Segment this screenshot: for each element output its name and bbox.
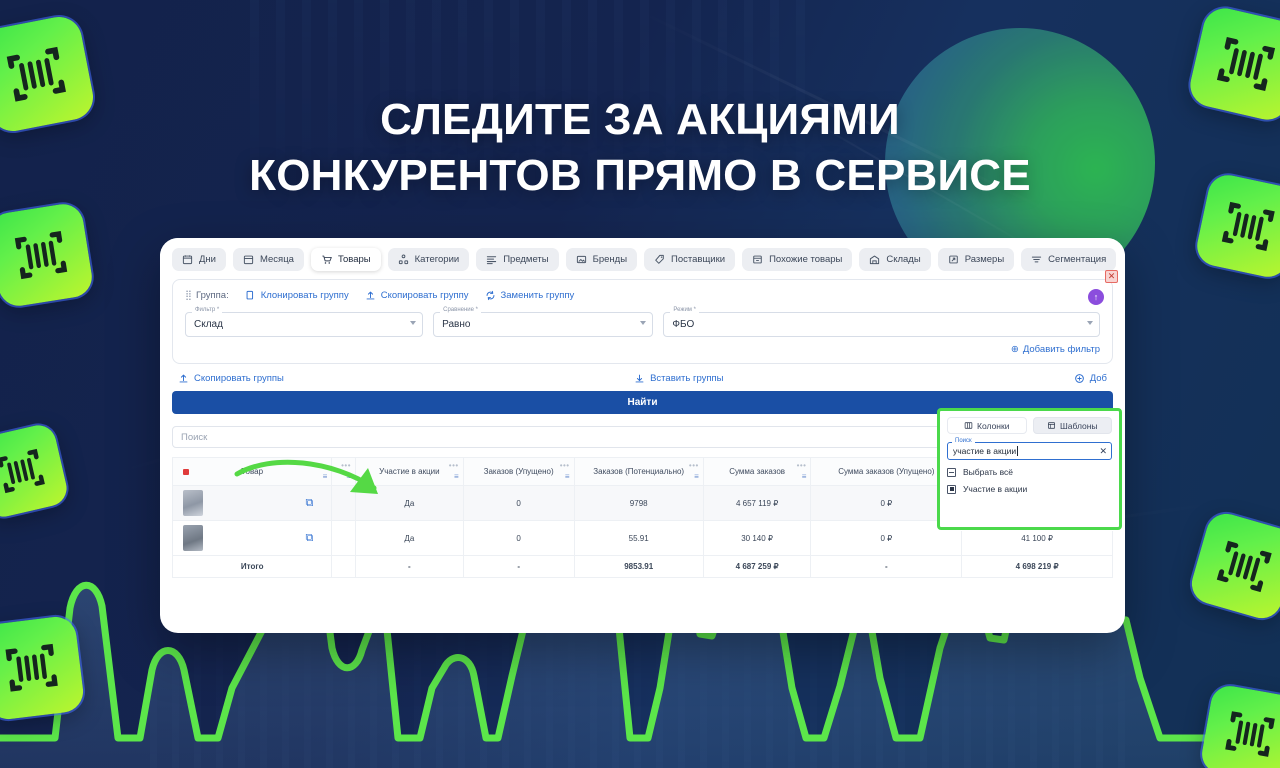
cell-total-promo: -: [356, 556, 464, 578]
tab-segmentaciya[interactable]: Сегментация: [1021, 248, 1116, 271]
comparison-field[interactable]: Сравнение * Равно: [433, 312, 653, 337]
main-tab-bar: Дни Месяца Товары Категории Предметы Бре…: [160, 238, 1125, 279]
add-filter-button[interactable]: ⊕Добавить фильтр: [185, 344, 1100, 355]
column-header-orders-potential[interactable]: Заказов (Потенциально) ••• ≡: [574, 458, 703, 486]
category-icon: [398, 254, 409, 265]
more-icon[interactable]: •••: [797, 461, 807, 470]
cell-total-orders-sum-lost: -: [811, 556, 962, 578]
cell-total-orders-sum: 4 687 259 ₽: [703, 556, 811, 578]
cell-product[interactable]: ⧉: [173, 521, 332, 556]
option-select-all-label: Выбрать всё: [963, 467, 1013, 477]
flag-icon: [183, 469, 189, 475]
cell-total-orders-potential: 9853.91: [574, 556, 703, 578]
tab-label: Предметы: [503, 254, 548, 265]
filter-field-value[interactable]: Склад: [185, 312, 423, 337]
copy-groups-label: Скопировать группы: [194, 373, 284, 384]
cell-total-orders-lost: -: [463, 556, 574, 578]
column-header-product[interactable]: Товар ≡: [173, 458, 332, 486]
clone-group-button[interactable]: Клонировать группу: [245, 290, 349, 301]
cell-promo: Да: [356, 521, 464, 556]
list-icon: [486, 254, 497, 265]
chevron-down-icon[interactable]: [410, 321, 416, 325]
tab-kategorii[interactable]: Категории: [388, 248, 470, 271]
chevron-down-icon[interactable]: [1087, 321, 1093, 325]
clone-group-label: Клонировать группу: [261, 290, 349, 301]
column-header-orders-sum[interactable]: Сумма заказов ••• ≡: [703, 458, 811, 486]
add-group-label: Доб: [1090, 373, 1107, 384]
cell-spacer: [332, 486, 356, 521]
cell-product[interactable]: ⧉: [173, 486, 332, 521]
copy-icon[interactable]: ⧉: [305, 497, 313, 510]
tab-mesyaca[interactable]: Месяца: [233, 248, 304, 271]
tab-label: Товары: [338, 254, 371, 265]
popup-search-input[interactable]: Поиск участие в акции ✕: [947, 442, 1112, 460]
sort-icon[interactable]: ≡: [802, 472, 807, 481]
cell-orders-potential: 55.91: [574, 521, 703, 556]
cell-spacer: [332, 556, 356, 578]
brand-badge-icon: [0, 201, 95, 309]
barcode-scan-icon: [0, 633, 67, 704]
replace-group-label: Заменить группу: [501, 290, 575, 301]
paste-down-icon: [634, 373, 645, 384]
clone-icon: [245, 290, 256, 301]
brand-badge-icon: [0, 615, 85, 722]
sort-icon[interactable]: ≡: [346, 472, 351, 481]
sort-icon[interactable]: ≡: [694, 472, 699, 481]
barcode-scan-icon: [6, 220, 77, 291]
tab-label: Категории: [415, 254, 460, 265]
group-action-row: ⣿ Группа: Клонировать группу Скопировать…: [185, 290, 1100, 301]
option-promo-participation[interactable]: Участие в акции: [947, 484, 1112, 494]
tab-label: Похожие товары: [769, 254, 842, 265]
popup-tab-bar: Колонки Шаблоны: [947, 417, 1112, 434]
warehouse-icon: [869, 254, 880, 265]
paste-groups-button[interactable]: Вставить группы: [634, 373, 723, 384]
popup-search-label: Поиск: [952, 438, 975, 444]
copy-group-button[interactable]: Скопировать группу: [365, 290, 469, 301]
tab-label: Сегментация: [1048, 254, 1106, 265]
tab-predmety[interactable]: Предметы: [476, 248, 558, 271]
columns-popup: Колонки Шаблоны Поиск участие в акции ✕ …: [937, 408, 1122, 530]
barcode-scan-icon: [1216, 700, 1280, 767]
calendar-day-icon: [182, 254, 193, 265]
headline-line-2: КОНКУРЕНТОВ ПРЯМО В СЕРВИСЕ: [0, 148, 1280, 204]
headline-line-1: СЛЕДИТЕ ЗА АКЦИЯМИ: [0, 92, 1280, 148]
tab-postavshchiki[interactable]: Поставщики: [644, 248, 735, 271]
drag-handle-icon[interactable]: ⣿: [185, 290, 191, 301]
replace-icon: [485, 290, 496, 301]
tab-columns-label: Колонки: [977, 421, 1009, 431]
comparison-field-label: Сравнение *: [440, 307, 481, 313]
cell-total-orders-sum-last: 4 698 219 ₽: [962, 556, 1113, 578]
checkbox-indeterminate-icon[interactable]: [947, 468, 956, 477]
close-icon[interactable]: ✕: [1105, 270, 1118, 283]
cell-orders-lost: 0: [463, 521, 574, 556]
filter-panel: ✕ ↑ ⣿ Группа: Клонировать группу Скопиро…: [172, 279, 1113, 364]
tag-icon: [654, 254, 665, 265]
tab-sklady[interactable]: Склады: [859, 248, 930, 271]
chevron-down-icon[interactable]: [640, 321, 646, 325]
templates-icon: [1047, 421, 1056, 430]
tab-label: Дни: [199, 254, 216, 265]
page-title: СЛЕДИТЕ ЗА АКЦИЯМИ КОНКУРЕНТОВ ПРЯМО В С…: [0, 92, 1280, 204]
cell-spacer: [332, 521, 356, 556]
cell-promo: Да: [356, 486, 464, 521]
copy-group-label: Скопировать группу: [381, 290, 469, 301]
similar-icon: [752, 254, 763, 265]
more-icon[interactable]: •••: [341, 461, 351, 470]
tab-pohozhie-tovary[interactable]: Похожие товары: [742, 248, 852, 271]
product-thumbnail: [183, 490, 203, 516]
product-thumbnail: [183, 525, 203, 551]
segments-icon: [1031, 254, 1042, 265]
comparison-field-value[interactable]: Равно: [433, 312, 653, 337]
popup-search-value: участие в акции: [953, 446, 1016, 456]
copy-up-icon: [365, 290, 376, 301]
tab-tovary[interactable]: Товары: [311, 248, 381, 271]
more-icon[interactable]: •••: [689, 461, 699, 470]
tab-columns[interactable]: Колонки: [947, 417, 1027, 434]
columns-icon: [964, 421, 973, 430]
tab-label: Поставщики: [671, 254, 725, 265]
table-total-row: Итого - - 9853.91 4 687 259 ₽ - 4 698 21…: [173, 556, 1113, 578]
resize-icon: [948, 254, 959, 265]
collapse-up-button[interactable]: ↑: [1088, 289, 1104, 305]
mode-field-value[interactable]: ФБО: [663, 312, 1100, 337]
cart-icon: [321, 254, 332, 265]
tab-dni[interactable]: Дни: [172, 248, 226, 271]
barcode-scan-icon: [1206, 528, 1280, 603]
barcode-scan-icon: [0, 439, 53, 504]
sort-icon[interactable]: ≡: [565, 472, 570, 481]
cell-orders-sum: 30 140 ₽: [703, 521, 811, 556]
image-icon: [576, 254, 587, 265]
option-select-all[interactable]: Выбрать всё: [947, 467, 1112, 477]
group-label: Группа:: [196, 290, 229, 301]
column-header-promo[interactable]: Участие в акции ••• ≡: [356, 458, 464, 486]
column-header-menu[interactable]: ••• ≡: [332, 458, 356, 486]
more-icon[interactable]: •••: [449, 461, 459, 470]
tab-brendy[interactable]: Бренды: [566, 248, 637, 271]
tab-templates[interactable]: Шаблоны: [1033, 417, 1113, 434]
sort-icon[interactable]: ≡: [454, 472, 459, 481]
tab-label: Склады: [886, 254, 920, 265]
column-header-orders-lost[interactable]: Заказов (Упущено) ••• ≡: [463, 458, 574, 486]
plus-circle-icon: ⊕: [1011, 344, 1019, 355]
tab-label: Месяца: [260, 254, 294, 265]
filter-field-label: Фильтр *: [192, 307, 222, 313]
filter-fields-row: Фильтр * Склад Сравнение * Равно Режим *…: [185, 312, 1100, 337]
add-filter-label: Добавить фильтр: [1023, 344, 1100, 355]
copy-up-icon: [178, 373, 189, 384]
clear-search-icon[interactable]: ✕: [1099, 446, 1107, 457]
option-promo-label: Участие в акции: [963, 484, 1027, 494]
checkbox-checked-icon[interactable]: [947, 485, 956, 494]
cell-orders-sum: 4 657 119 ₽: [703, 486, 811, 521]
mode-field[interactable]: Режим * ФБО: [663, 312, 1100, 337]
group-actions-row: Скопировать группы Вставить группы Доб: [172, 373, 1113, 384]
group-label-wrap: ⣿ Группа:: [185, 290, 229, 301]
tab-templates-label: Шаблоны: [1060, 421, 1098, 431]
tab-label: Размеры: [965, 254, 1004, 265]
cell-orders-lost: 0: [463, 486, 574, 521]
replace-group-button[interactable]: Заменить группу: [485, 290, 575, 301]
tab-razmery[interactable]: Размеры: [938, 248, 1014, 271]
cell-orders-potential: 9798: [574, 486, 703, 521]
more-icon[interactable]: •••: [560, 461, 570, 470]
add-group-button[interactable]: Доб: [1074, 373, 1107, 384]
text-caret: [1017, 446, 1018, 456]
plus-circle-icon: [1074, 373, 1085, 384]
tab-label: Бренды: [593, 254, 627, 265]
mode-field-label: Режим *: [670, 307, 699, 313]
product-cell: ⧉: [173, 486, 331, 520]
cell-total-label: Итого: [173, 556, 332, 578]
paste-groups-label: Вставить группы: [650, 373, 723, 384]
copy-icon[interactable]: ⧉: [305, 532, 313, 545]
sort-icon[interactable]: ≡: [323, 472, 328, 481]
filter-field[interactable]: Фильтр * Склад: [185, 312, 423, 337]
calendar-month-icon: [243, 254, 254, 265]
product-cell: ⧉: [173, 521, 331, 555]
copy-groups-button[interactable]: Скопировать группы: [178, 373, 284, 384]
